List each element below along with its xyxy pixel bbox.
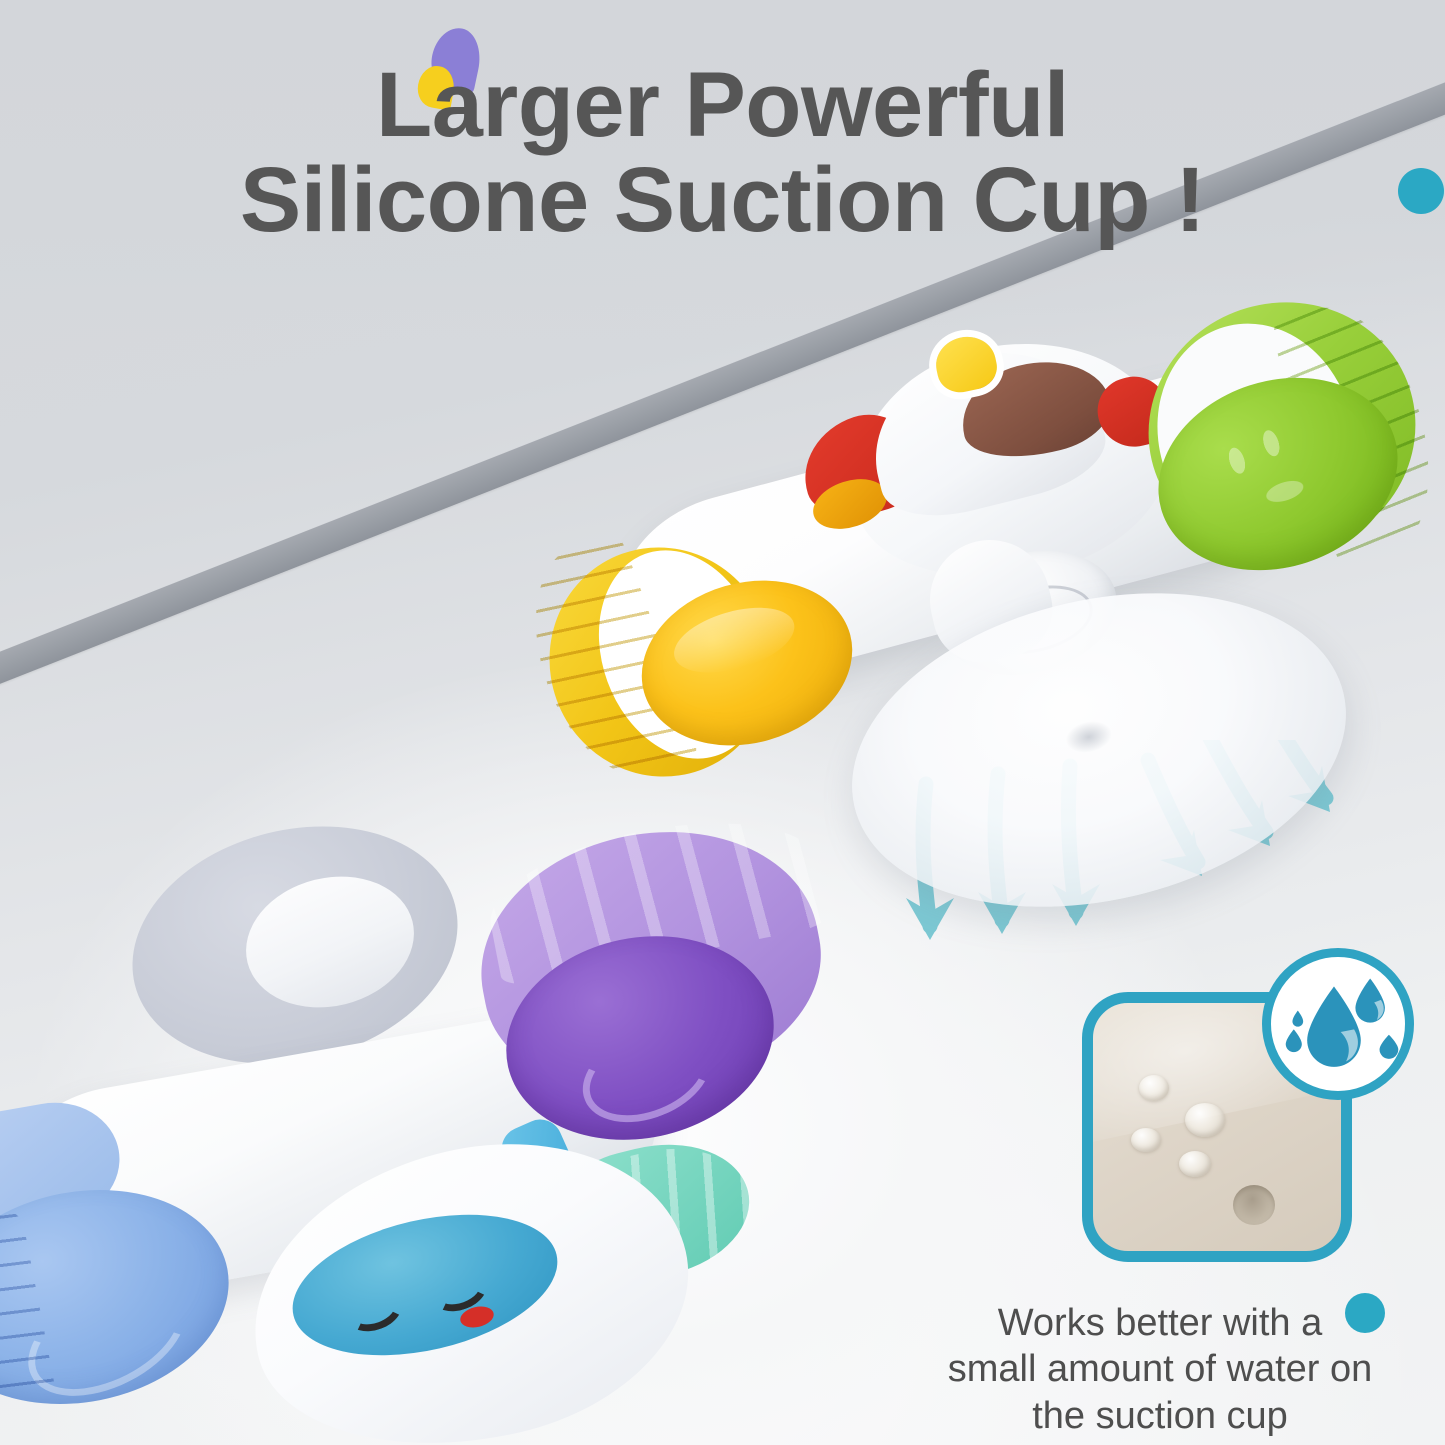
water-bead	[1185, 1103, 1225, 1137]
callout-caption: Works better with a small amount of wate…	[880, 1300, 1440, 1439]
teal-dot-icon	[1398, 168, 1444, 214]
caption-line-3: the suction cup	[880, 1393, 1440, 1439]
water-drop-icon	[1271, 957, 1405, 1091]
caption-line-1: Works better with a	[880, 1300, 1440, 1346]
water-tip-callout	[1082, 992, 1352, 1262]
suction-cup-vent-hole	[1233, 1185, 1275, 1225]
water-drop-badge	[1262, 948, 1414, 1100]
water-bead	[1179, 1151, 1211, 1177]
water-bead	[1139, 1075, 1169, 1101]
water-bead	[1131, 1128, 1161, 1152]
product-feature-image: Larger Powerful Silicone Suction Cup !	[0, 0, 1445, 1445]
caption-line-2: small amount of water on	[880, 1346, 1440, 1392]
spinner-toy-purple-blue	[0, 820, 820, 1445]
